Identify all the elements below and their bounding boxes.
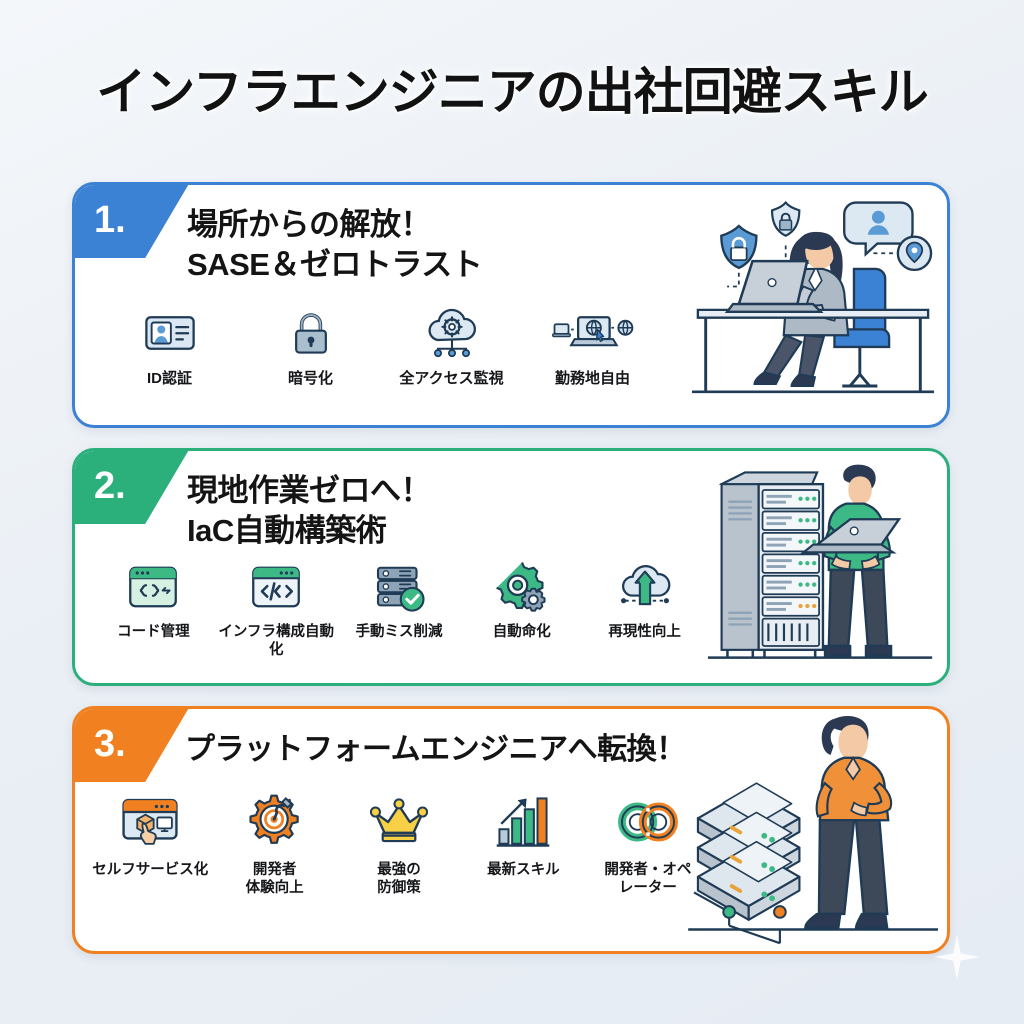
feature-label: 開発者・オペ レーター: [604, 862, 691, 897]
section-card-2: 2. 現地作業ゼロへ！ IaC自動構築術 コード管理: [72, 448, 950, 686]
feature-label: 最強の 防御策: [377, 862, 421, 897]
feature-item[interactable]: 最強の 防御策: [338, 789, 460, 897]
code-braces-window-icon: [125, 557, 181, 617]
section-3-icon-row: セルフサービス化 開発者 体験向上: [89, 789, 709, 897]
illustration-woman-isometric-servers: [685, 709, 947, 951]
illustration-woman-at-desk: [679, 185, 947, 425]
section-number-badge-1: 1.: [72, 182, 190, 258]
section-number-badge-3: 3.: [72, 706, 190, 782]
feature-item[interactable]: 再現性向上: [584, 557, 705, 642]
section-card-3: 3. プラットフォームエンジニアへ転換！ セルフサービス化: [72, 706, 950, 954]
feature-item[interactable]: ID認証: [101, 303, 238, 388]
gears-icon: [494, 557, 550, 617]
bar-chart-arrow-icon: [494, 789, 552, 855]
section-heading-3: プラットフォームエンジニアへ転換！: [185, 731, 686, 769]
feature-item[interactable]: 最新スキル: [462, 789, 584, 880]
cloud-upload-icon: [615, 557, 675, 617]
feature-item[interactable]: インフラ構成自動化: [216, 557, 337, 659]
section-card-1: 1. 場所からの解放！ SASE＆ゼロトラスト ID認証: [72, 182, 950, 428]
feature-label: 自動命化: [493, 624, 551, 642]
feature-item[interactable]: 開発者 体験向上: [213, 789, 335, 897]
section-2-icon-row: コード管理 インフラ構成自動化: [93, 557, 705, 659]
section-heading-1-line2: SASE＆ゼロトラスト: [187, 245, 482, 285]
feature-item[interactable]: 手動ミス削減: [339, 557, 460, 642]
feature-label: ID認証: [147, 370, 192, 388]
section-heading-2: 現地作業ゼロへ！ IaC自動構築術: [187, 471, 431, 550]
feature-label: 最新スキル: [487, 862, 560, 880]
feature-item[interactable]: 勤務地自由: [524, 303, 661, 388]
id-card-icon: [142, 303, 198, 363]
feature-label: 開発者 体験向上: [246, 862, 304, 897]
feature-label: 勤務地自由: [555, 370, 630, 388]
cloud-gear-icon: [419, 303, 485, 363]
server-check-icon: [371, 557, 427, 617]
section-heading-2-line1: 現地作業ゼロへ！: [187, 471, 431, 511]
gear-wrench-target-icon: [246, 789, 304, 855]
feature-item[interactable]: 暗号化: [242, 303, 379, 388]
feature-item[interactable]: 自動命化: [461, 557, 582, 642]
crown-icon: [368, 789, 430, 855]
page-title: インフラエンジニアの出社回避スキル: [0, 52, 1024, 124]
section-heading-1: 場所からの解放！ SASE＆ゼロトラスト: [187, 205, 482, 284]
feature-item[interactable]: セルフサービス化: [89, 789, 211, 880]
section-1-icon-row: ID認証 暗号化: [101, 303, 661, 388]
feature-label: インフラ構成自動化: [216, 624, 337, 659]
feature-label: 全アクセス監視: [399, 370, 503, 388]
code-tags-window-icon: [248, 557, 304, 617]
feature-label: コード管理: [117, 624, 190, 642]
section-number-badge-2: 2.: [72, 448, 190, 524]
feature-label: 再現性向上: [608, 624, 681, 642]
feature-item[interactable]: 全アクセス監視: [383, 303, 520, 388]
feature-item[interactable]: コード管理: [93, 557, 214, 642]
section-heading-1-line1: 場所からの解放！: [187, 205, 482, 245]
page-title-wrap: インフラエンジニアの出社回避スキル: [0, 52, 1024, 124]
section-heading-3-line1: プラットフォームエンジニアへ転換！: [185, 731, 686, 769]
feature-label: 手動ミス削減: [355, 624, 442, 642]
section-heading-2-line2: IaC自動構築術: [187, 511, 431, 551]
feature-label: セルフサービス化: [92, 862, 208, 880]
illustration-server-rack-engineer: [697, 451, 947, 683]
padlock-icon: [286, 303, 336, 363]
laptop-globe-icon: [550, 303, 636, 363]
self-service-portal-icon: [119, 789, 181, 855]
devops-infinity-icon: [615, 789, 681, 855]
feature-label: 暗号化: [288, 370, 333, 388]
